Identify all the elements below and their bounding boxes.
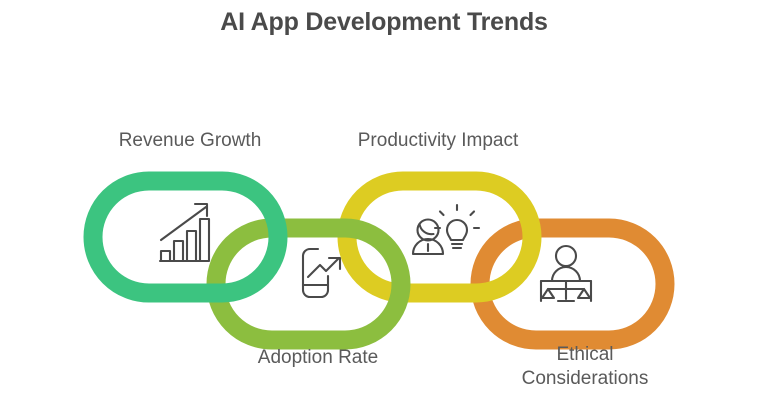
link-ring-revenue [93, 181, 278, 293]
person-balance-scales-icon [541, 246, 591, 301]
mobile-trend-up-icon [303, 249, 340, 297]
bar-chart-growth-icon [160, 204, 209, 261]
chain-link-productivity-impact[interactable] [347, 181, 532, 293]
link-label-productivity-impact: Productivity Impact [308, 129, 568, 153]
person-lightbulb-idea-icon [413, 205, 479, 254]
chain-link-adoption-rate[interactable] [216, 228, 401, 340]
link-label-adoption-rate: Adoption Rate [218, 346, 418, 370]
chain-link-revenue-growth[interactable] [93, 181, 278, 293]
link-ring-ethical [480, 228, 665, 340]
link-label-ethical-considerations: Ethical Considerations [490, 343, 680, 391]
link-ring-productivity [347, 181, 532, 293]
link-label-revenue-growth: Revenue Growth [60, 129, 320, 153]
link-ring-adoption [216, 228, 401, 340]
page-title: AI App Development Trends [0, 8, 768, 37]
infographic-canvas: AI App Development Trends [0, 0, 768, 409]
chain-link-ethical-considerations[interactable] [480, 228, 665, 340]
